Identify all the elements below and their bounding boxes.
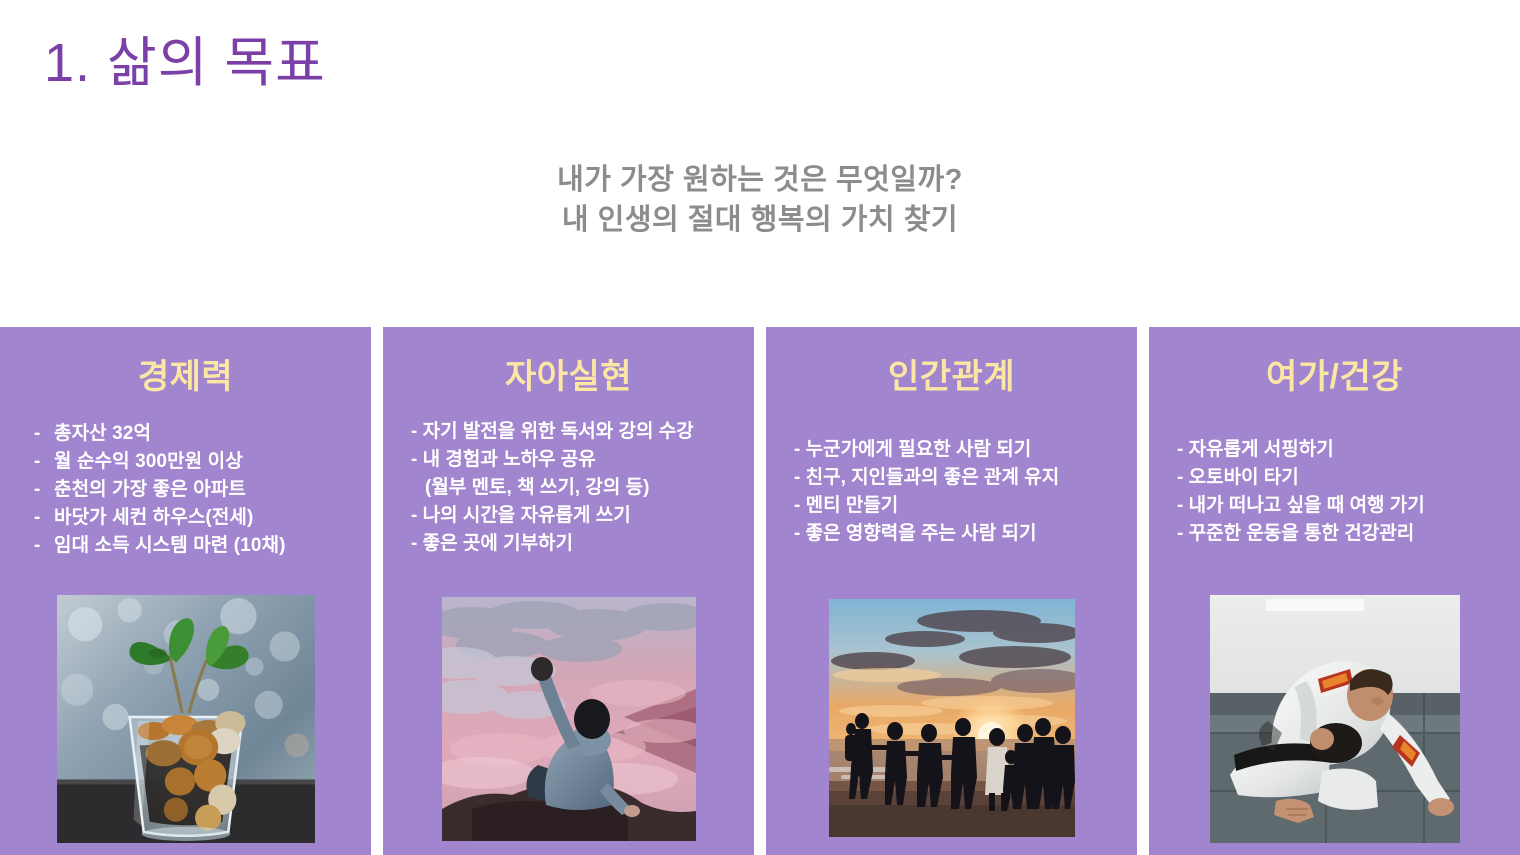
list-item-label: 임대 소득 시스템 마련 (10채) xyxy=(54,535,286,556)
bullet-marker: - xyxy=(411,449,417,470)
bullet-marker: - xyxy=(411,421,417,442)
list-item: - 자유롭게 서핑하기 xyxy=(1177,436,1504,464)
list-item-label: 오토바이 타기 xyxy=(1189,467,1299,488)
bullet-marker: - xyxy=(1177,439,1183,460)
bullet-marker: - xyxy=(34,476,54,504)
list-item: -임대 소득 시스템 마련 (10채) xyxy=(34,532,355,560)
jiujitsu-training-photo xyxy=(1210,595,1460,843)
bullet-marker: - xyxy=(34,448,54,476)
column-leisure-health: 여가/건강 - 자유롭게 서핑하기 - 오토바이 타기 - 내가 떠나고 싶을 … xyxy=(1149,327,1520,855)
subtitle-block: 내가 가장 원하는 것은 무엇일까? 내 인생의 절대 행복의 가치 찾기 xyxy=(0,160,1520,240)
list-item: - 좋은 영향력을 주는 사람 되기 xyxy=(794,520,1121,548)
bullet-marker: - xyxy=(794,495,800,516)
list-item-label: 바닷가 세컨 하우스(전세) xyxy=(54,507,253,528)
coins-plant-photo xyxy=(57,595,315,843)
list-item-label: 총자산 32억 xyxy=(54,423,151,444)
list-item: -바닷가 세컨 하우스(전세) xyxy=(34,504,355,532)
bullet-marker: - xyxy=(1177,523,1183,544)
subtitle-line-2: 내 인생의 절대 행복의 가치 찾기 xyxy=(0,200,1520,240)
list-item: - 멘티 만들기 xyxy=(794,492,1121,520)
bullet-marker: - xyxy=(1177,467,1183,488)
column-title-economy: 경제력 xyxy=(138,349,233,398)
subtitle-line-1: 내가 가장 원하는 것은 무엇일까? xyxy=(0,160,1520,200)
bullet-marker: - xyxy=(1177,495,1183,516)
list-item: - 나의 시간을 자유롭게 쓰기 xyxy=(411,502,738,530)
bullet-marker: - xyxy=(34,532,54,560)
list-item: -월 순수익 300만원 이상 xyxy=(34,448,355,476)
column-list-leisure-health: - 자유롭게 서핑하기 - 오토바이 타기 - 내가 떠나고 싶을 때 여행 가… xyxy=(1149,436,1520,548)
column-title-self-realization: 자아실현 xyxy=(505,349,632,398)
list-item: - 누군가에게 필요한 사람 되기 xyxy=(794,436,1121,464)
slide-root: 1. 삶의 목표 내가 가장 원하는 것은 무엇일까? 내 인생의 절대 행복의… xyxy=(0,0,1520,855)
list-item: - 오토바이 타기 xyxy=(1177,464,1504,492)
goal-columns: 경제력 -총자산 32억 -월 순수익 300만원 이상 -춘천의 가장 좋은 … xyxy=(0,327,1520,855)
column-economy: 경제력 -총자산 32억 -월 순수익 300만원 이상 -춘천의 가장 좋은 … xyxy=(0,327,371,855)
bullet-marker: - xyxy=(411,505,417,526)
list-item-label: 꾸준한 운동을 통한 건강관리 xyxy=(1189,523,1415,544)
bullet-marker: - xyxy=(794,439,800,460)
list-item-label: 누군가에게 필요한 사람 되기 xyxy=(806,439,1032,460)
list-item-label: 내가 떠나고 싶을 때 여행 가기 xyxy=(1189,495,1425,516)
column-title-leisure-health: 여가/건강 xyxy=(1266,349,1403,398)
page-title: 1. 삶의 목표 xyxy=(44,18,326,97)
column-list-relationships: - 누군가에게 필요한 사람 되기 - 친구, 지인들과의 좋은 관계 유지 -… xyxy=(766,436,1137,548)
list-item: - 자기 발전을 위한 독서와 강의 수강 xyxy=(411,418,738,446)
mountain-victory-photo xyxy=(442,597,696,841)
list-item-label: 나의 시간을 자유롭게 쓰기 xyxy=(423,505,631,526)
column-list-economy: -총자산 32억 -월 순수익 300만원 이상 -춘천의 가장 좋은 아파트 … xyxy=(0,420,371,560)
list-item-label: 친구, 지인들과의 좋은 관계 유지 xyxy=(806,467,1060,488)
list-item-label: 자유롭게 서핑하기 xyxy=(1189,439,1334,460)
list-item: -총자산 32억 xyxy=(34,420,355,448)
beach-sunset-group-photo xyxy=(829,599,1075,837)
list-item-label: 자기 발전을 위한 독서와 강의 수강 xyxy=(423,421,694,442)
list-item: - 내가 떠나고 싶을 때 여행 가기 xyxy=(1177,492,1504,520)
bullet-marker: - xyxy=(794,523,800,544)
list-item: -춘천의 가장 좋은 아파트 xyxy=(34,476,355,504)
list-item: - 꾸준한 운동을 통한 건강관리 xyxy=(1177,520,1504,548)
bullet-marker: - xyxy=(794,467,800,488)
bullet-marker: - xyxy=(34,504,54,532)
list-item: - 친구, 지인들과의 좋은 관계 유지 xyxy=(794,464,1121,492)
column-relationships: 인간관계 - 누군가에게 필요한 사람 되기 - 친구, 지인들과의 좋은 관계… xyxy=(766,327,1137,855)
column-self-realization: 자아실현 - 자기 발전을 위한 독서와 강의 수강 - 내 경험과 노하우 공… xyxy=(383,327,754,855)
list-item-label: 월 순수익 300만원 이상 xyxy=(54,451,243,472)
list-item: - 좋은 곳에 기부하기 xyxy=(411,530,738,558)
bullet-marker: - xyxy=(411,533,417,554)
column-list-self-realization: - 자기 발전을 위한 독서와 강의 수강 - 내 경험과 노하우 공유 (월부… xyxy=(383,418,754,558)
list-item-label: 좋은 곳에 기부하기 xyxy=(423,533,573,554)
list-subitem: (월부 멘토, 책 쓰기, 강의 등) xyxy=(411,474,738,502)
bullet-marker: - xyxy=(34,420,54,448)
column-title-relationships: 인간관계 xyxy=(888,349,1015,398)
list-item-label: 내 경험과 노하우 공유 xyxy=(423,449,596,470)
list-item-label: 춘천의 가장 좋은 아파트 xyxy=(54,479,246,500)
list-item-label: 멘티 만들기 xyxy=(806,495,899,516)
list-item-label: 좋은 영향력을 주는 사람 되기 xyxy=(806,523,1037,544)
list-item: - 내 경험과 노하우 공유 xyxy=(411,446,738,474)
